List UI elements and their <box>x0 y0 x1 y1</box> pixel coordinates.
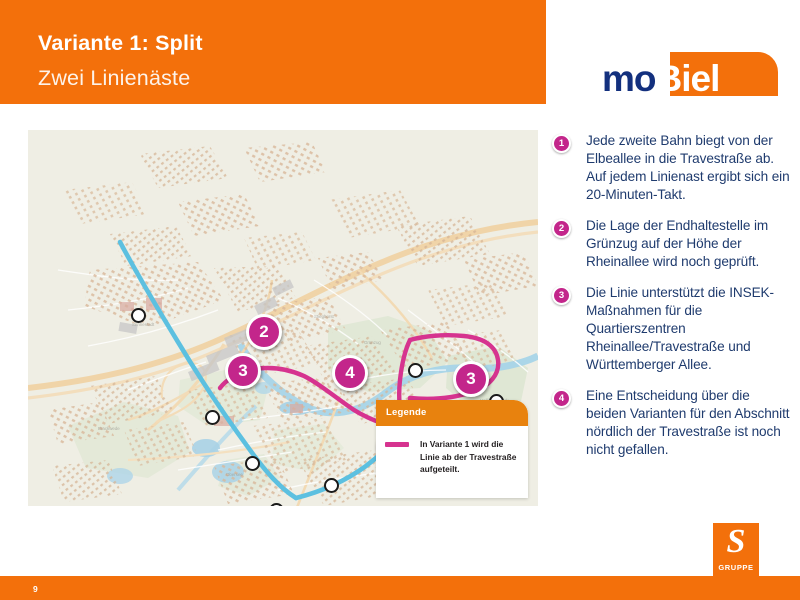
note-text-3: Die Linie unterstützt die INSEK-Maßnahme… <box>586 285 774 372</box>
notes-list: 1 Jede zweite Bahn biegt von der Elbeall… <box>552 132 792 472</box>
svg-text:Sennestadt: Sennestadt <box>132 322 155 327</box>
mobiel-logo-biel: Biel <box>656 58 720 99</box>
note-item: 3 Die Linie unterstützt die INSEK-Maßnah… <box>552 284 792 374</box>
map-marker-3-east[interactable]: 3 <box>453 361 489 397</box>
gruppe-label: GRUPPE <box>713 563 759 572</box>
note-badge-3: 3 <box>552 286 571 305</box>
mobiel-logo-wordmark: moBiel <box>602 59 778 99</box>
note-text-2: Die Lage der Endhaltestelle im Grünzug a… <box>586 218 768 269</box>
mobiel-logo: moBiel <box>602 52 778 114</box>
note-item: 1 Jede zweite Bahn biegt von der Elbeall… <box>552 132 792 204</box>
s-mark-icon: S <box>713 522 759 562</box>
note-badge-1: 1 <box>552 134 571 153</box>
legend-heading: Legende <box>376 400 528 426</box>
map-stop[interactable] <box>408 363 423 378</box>
map-stop[interactable] <box>324 478 339 493</box>
note-text-1: Jede zweite Bahn biegt von der Elbeallee… <box>586 133 790 202</box>
page-number: 9 <box>33 584 38 594</box>
note-item: 4 Eine Entscheidung über die beiden Vari… <box>552 387 792 459</box>
svg-text:Brackwede: Brackwede <box>98 426 120 431</box>
map-legend: Legende In Variante 1 wird die Linie ab … <box>376 400 528 498</box>
note-badge-4: 4 <box>552 389 571 408</box>
map-marker-2[interactable]: 2 <box>246 314 282 350</box>
legend-item-text: In Variante 1 wird die Linie ab der Trav… <box>420 438 519 476</box>
map-marker-3-west[interactable]: 3 <box>225 353 261 389</box>
note-item: 2 Die Lage der Endhaltestelle im Grünzug… <box>552 217 792 271</box>
note-badge-2: 2 <box>552 219 571 238</box>
page-title: Variante 1: Split <box>38 33 203 55</box>
svg-text:Stieghorst: Stieghorst <box>314 314 335 319</box>
map-stop[interactable] <box>131 308 146 323</box>
note-text-4: Eine Entscheidung über die beiden Varian… <box>586 388 789 457</box>
map-stop[interactable] <box>205 410 220 425</box>
sparkasse-gruppe-logo: S GRUPPE <box>713 523 759 579</box>
map-stop[interactable] <box>245 456 260 471</box>
svg-text:Grünzug: Grünzug <box>364 340 381 345</box>
map-marker-4[interactable]: 4 <box>332 355 368 391</box>
legend-line-swatch <box>385 442 409 447</box>
svg-text:Obersee: Obersee <box>226 472 243 477</box>
page-subtitle: Zwei Linienäste <box>38 68 190 90</box>
slide-canvas: Variante 1: Split Zwei Linienäste moBiel <box>0 0 800 600</box>
mobiel-logo-mo: mo <box>602 58 656 99</box>
legend-body: In Variante 1 wird die Linie ab der Trav… <box>376 426 528 476</box>
footer-bar <box>0 576 800 600</box>
